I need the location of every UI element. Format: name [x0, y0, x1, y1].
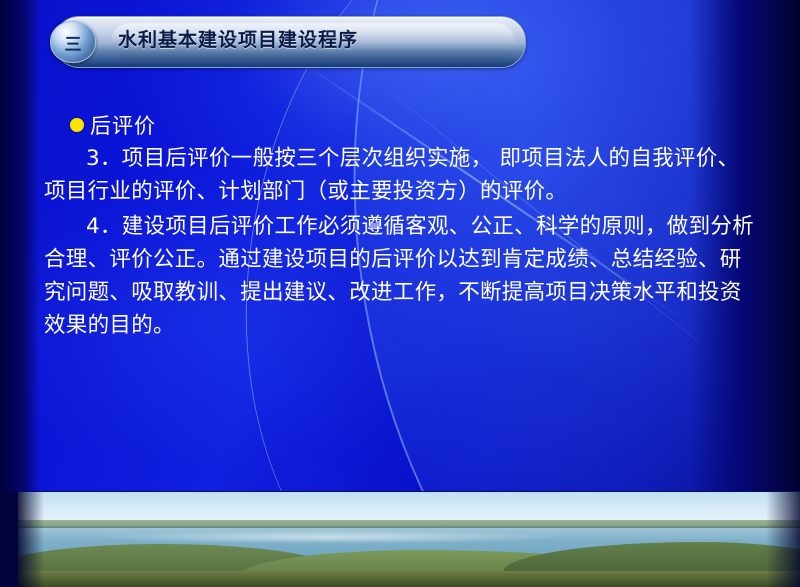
page-title: 水利基本建设项目建设程序	[118, 25, 358, 52]
photo-band-left-margin	[0, 492, 18, 587]
slide-title-bar: 三 水利基本建设项目建设程序	[26, 16, 526, 68]
chapter-number-badge: 三	[50, 21, 96, 63]
bullet-heading: 后评价	[70, 110, 156, 140]
slide: 三 水利基本建设项目建设程序 后评价 3．项目后评价一般按三个层次组织实施， 即…	[0, 0, 800, 587]
photo-foreground	[18, 571, 800, 587]
paragraph-3: 3．项目后评价一般按三个层次组织实施， 即项目法人的自我评价、项目行业的评价、计…	[44, 142, 760, 208]
chapter-number-text: 三	[51, 30, 95, 55]
photo-shadow-left	[18, 492, 44, 587]
bullet-heading-label: 后评价	[90, 110, 156, 140]
filled-circle-bullet-icon	[70, 118, 84, 132]
slide-body: 3．项目后评价一般按三个层次组织实施， 即项目法人的自我评价、项目行业的评价、计…	[44, 142, 760, 344]
photo-shadow-right	[766, 492, 800, 587]
paragraph-4: 4．建设项目后评价工作必须遵循客观、公正、科学的原则，做到分析合理、评价公正。通…	[44, 210, 760, 342]
photo-water-highlight	[96, 530, 565, 544]
landscape-photo-band	[18, 491, 800, 587]
